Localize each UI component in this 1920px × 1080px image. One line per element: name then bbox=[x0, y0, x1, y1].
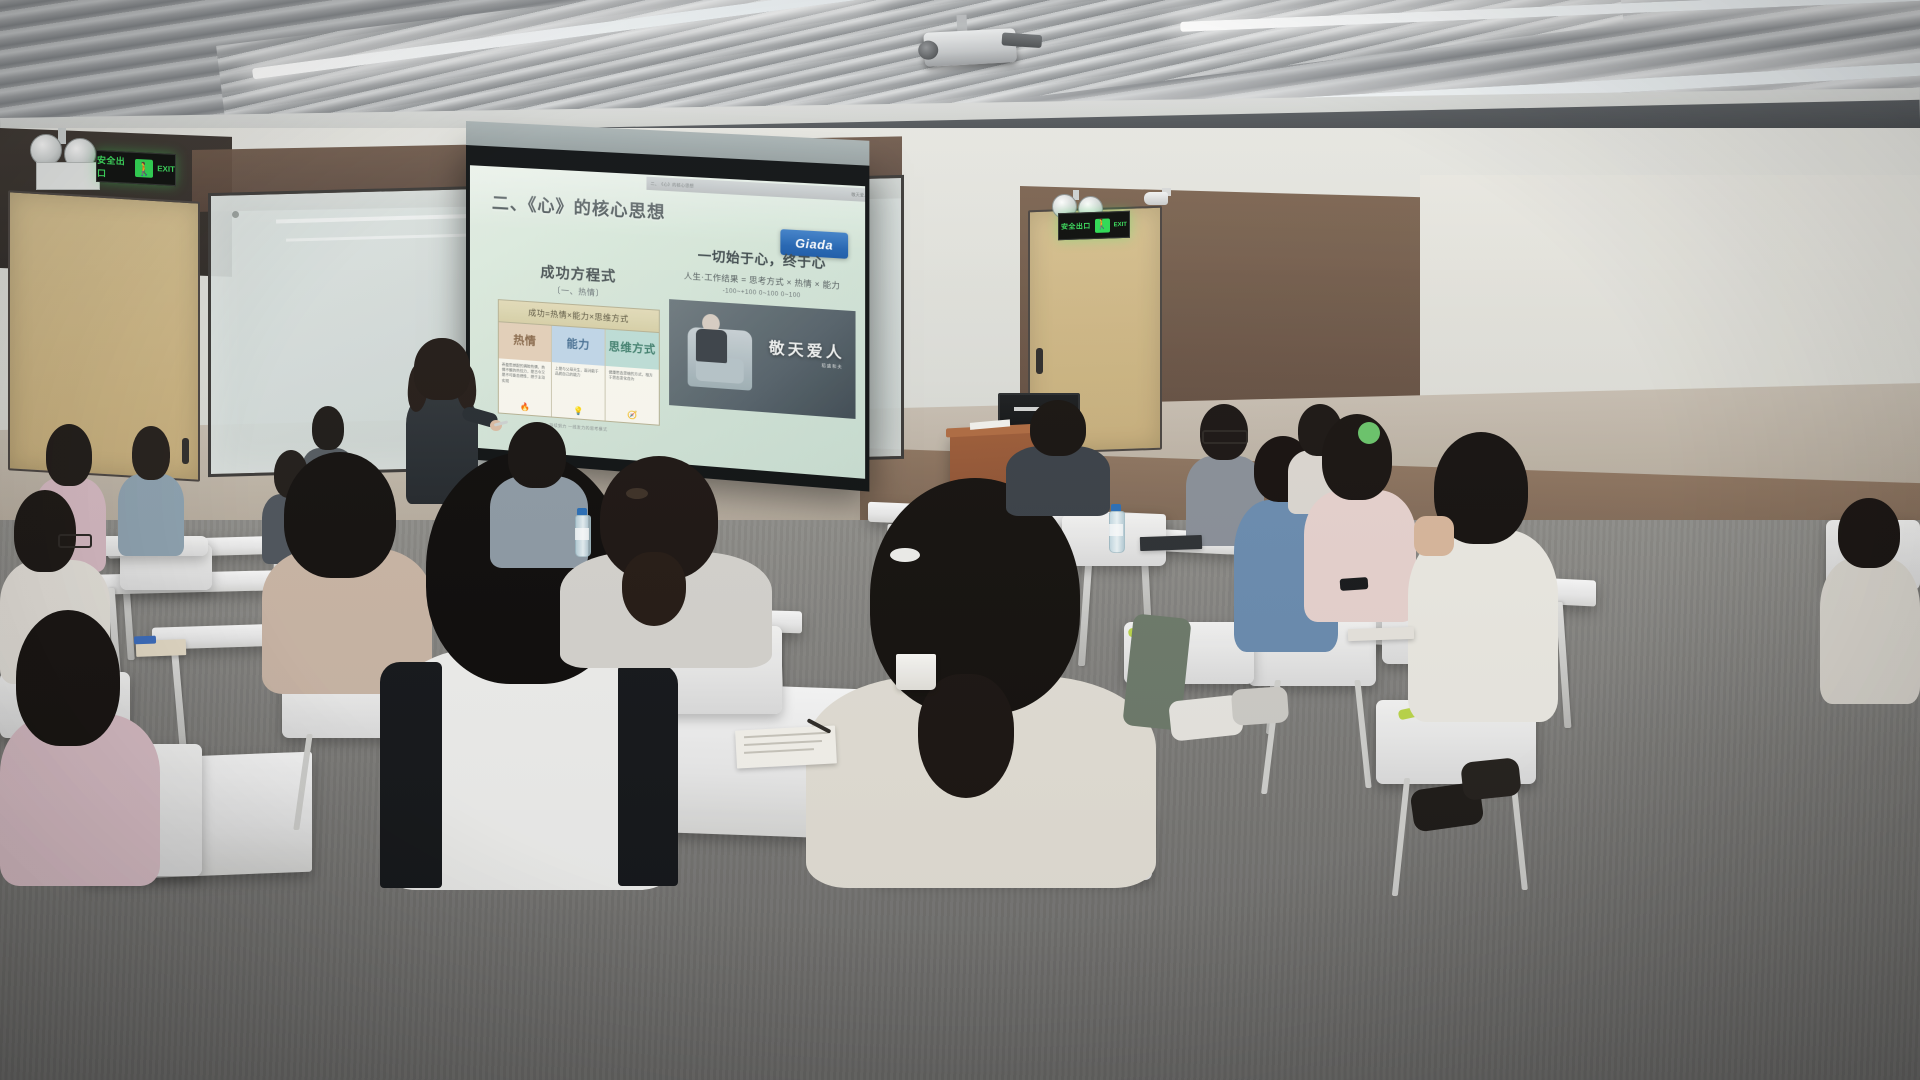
exit-sign-chinese-label: 安全出口 bbox=[97, 153, 131, 181]
attendee-hair bbox=[1030, 400, 1086, 456]
shoe bbox=[1231, 686, 1289, 726]
attendee bbox=[1820, 498, 1920, 698]
exit-sign-left: 安全出口 🚶 EXIT bbox=[96, 150, 176, 186]
attendee-hair bbox=[16, 610, 120, 746]
water-bottle[interactable] bbox=[1108, 504, 1126, 552]
attendee-torso bbox=[1408, 530, 1558, 722]
slide-left-column: 成功方程式 〔一、热情〕 成功=热情×能力×思维方式 热情 养盈思燃配的满腔热情… bbox=[498, 259, 660, 437]
attendee-ponytail bbox=[918, 674, 1014, 798]
attendee-glasses bbox=[58, 534, 92, 548]
equation-column-mindset: 思维方式 健康思态思维的方式，相方于思态变化自为 🧭 bbox=[606, 329, 659, 424]
notebook[interactable] bbox=[1140, 535, 1202, 551]
column-body: 上是与父母天生，面对能于品质自己的能力 bbox=[552, 362, 605, 408]
attendee-torso bbox=[1820, 558, 1920, 704]
passion-icon: 🔥 bbox=[499, 400, 551, 416]
attendee bbox=[1006, 400, 1110, 510]
equation-column-passion: 热情 养盈思燃配的满腔热情，热情不懈的热忱力，是古今又是不可能自燃性，燃于主动实… bbox=[499, 322, 552, 416]
running-man-icon: 🚶 bbox=[1095, 218, 1110, 233]
exit-sign-english-label: EXIT bbox=[157, 165, 175, 174]
attendee-hair bbox=[1322, 414, 1392, 500]
running-man-icon: 🚶 bbox=[135, 159, 153, 178]
attendee-hand bbox=[1414, 516, 1454, 556]
hair-clip bbox=[890, 548, 920, 562]
slide-title: 二、《心》的核心思想 bbox=[492, 188, 666, 223]
column-body: 养盈思燃配的满腔热情，热情不懈的热忱力，是古今又是不可能自燃性，燃于主动实现 bbox=[499, 358, 551, 404]
attendee-hair bbox=[1838, 498, 1900, 568]
photo-caption: 敬天爱人 bbox=[769, 336, 845, 363]
emergency-light-left bbox=[30, 128, 100, 182]
column-caption: 思维方式 bbox=[606, 329, 659, 369]
attendee-hair bbox=[46, 424, 92, 486]
attendee-sleeve bbox=[380, 662, 442, 888]
training-room-photo: 安全出口 🚶 EXIT 安全出口 🚶 EXIT 二、《心》的核心思想 敬天爱人 … bbox=[0, 0, 1920, 1080]
attendee bbox=[560, 456, 772, 656]
attendee-torso bbox=[118, 474, 184, 556]
photo-person bbox=[696, 313, 727, 362]
exit-sign-english-label: EXIT bbox=[1114, 221, 1127, 227]
column-body: 健康思态思维的方式，相方于思态变化自为 bbox=[606, 366, 659, 413]
column-caption: 能力 bbox=[552, 326, 605, 366]
notebook[interactable] bbox=[1348, 627, 1414, 641]
equation-column-ability: 能力 上是与父母天生，面对能于品质自己的能力 💡 bbox=[552, 326, 606, 420]
photo-caption-sub: 稻盛和夫 bbox=[822, 363, 843, 371]
presenter-hair bbox=[414, 338, 470, 400]
sticky-note bbox=[134, 636, 156, 645]
attendee-sleeve bbox=[618, 664, 678, 886]
slide-right-column: 一切始于心，终于心 人生·工作结果 = 思考方式 × 热情 × 能力 -100~… bbox=[668, 243, 857, 419]
phone[interactable] bbox=[1340, 577, 1369, 591]
projector-arm bbox=[1001, 32, 1042, 48]
hair-accessory bbox=[1358, 422, 1380, 444]
exit-sign-right: 安全出口 🚶 EXIT bbox=[1058, 211, 1130, 241]
slide-strip-left-label: 二、《心》的核心思想 bbox=[651, 180, 694, 188]
attendee-hair bbox=[312, 406, 344, 450]
attendee-hair bbox=[14, 490, 76, 572]
photo-person-body bbox=[696, 328, 727, 363]
mindset-icon: 🧭 bbox=[606, 408, 659, 424]
door-handle[interactable] bbox=[1036, 348, 1043, 374]
wall-plate bbox=[36, 162, 100, 190]
slide-photo: 敬天爱人 稻盛和夫 bbox=[669, 299, 855, 419]
shoe bbox=[1460, 757, 1522, 801]
bottle-label bbox=[575, 528, 589, 540]
column-caption: 热情 bbox=[499, 322, 551, 361]
camera-body bbox=[1144, 192, 1168, 205]
bottle-label bbox=[1109, 524, 1123, 536]
slide-top-strip: 二、《心》的核心思想 敬天爱人 bbox=[646, 177, 865, 203]
attendee bbox=[118, 426, 184, 552]
security-camera-icon bbox=[1144, 188, 1172, 208]
exit-sign-chinese-label: 安全出口 bbox=[1061, 221, 1091, 232]
attendee-torso bbox=[1304, 490, 1416, 622]
projector-icon bbox=[923, 15, 1036, 73]
attendee-torso bbox=[1006, 446, 1110, 516]
ability-icon: 💡 bbox=[552, 404, 605, 420]
attendee bbox=[806, 478, 1156, 880]
whiteboard-mount-dot bbox=[232, 211, 239, 218]
water-bottle[interactable] bbox=[574, 508, 592, 556]
hair-tie bbox=[626, 488, 648, 499]
attendee bbox=[1408, 432, 1558, 718]
equation-table-columns: 热情 养盈思燃配的满腔热情，热情不懈的热忱力，是古今又是不可能自燃性，燃于主动实… bbox=[499, 322, 659, 424]
attendee-hair bbox=[132, 426, 170, 480]
attendee-ponytail bbox=[622, 552, 686, 626]
slide-strip-right-label: 敬天爱人 bbox=[851, 191, 865, 198]
paper-cup[interactable] bbox=[896, 654, 936, 690]
success-equation-table: 成功=热情×能力×思维方式 热情 养盈思燃配的满腔热情，热情不懈的热忱力，是古今… bbox=[498, 299, 660, 425]
attendee-hair bbox=[508, 422, 566, 488]
